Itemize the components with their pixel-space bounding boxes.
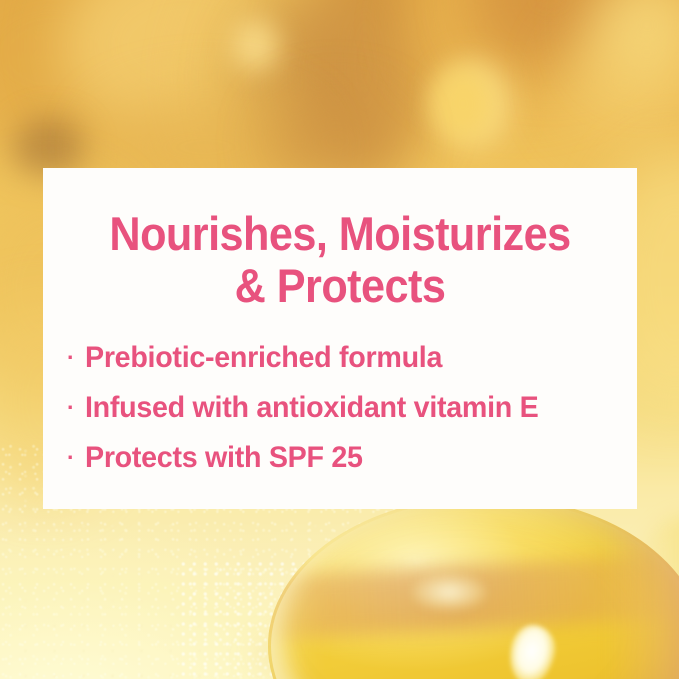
list-item: · Infused with antioxidant vitamin E — [67, 388, 637, 427]
list-item-label: Prebiotic-enriched formula — [85, 338, 442, 377]
headline: Nourishes, Moisturizes & Protects — [67, 168, 613, 312]
bokeh-blob — [470, 0, 630, 70]
product-feature-image: Nourishes, Moisturizes & Protects · Preb… — [0, 0, 679, 679]
bokeh-blob — [412, 0, 622, 100]
bokeh-blob — [432, 68, 494, 140]
bokeh-blob — [200, 0, 380, 180]
bullet-dot-icon: · — [67, 346, 85, 369]
bokeh-blob — [300, 0, 430, 180]
capsule-soft-highlight — [412, 574, 486, 610]
bullet-dot-icon: · — [67, 396, 85, 419]
list-item: · Prebiotic-enriched formula — [67, 338, 637, 377]
bullet-dot-icon: · — [67, 446, 85, 469]
bokeh-blob — [440, 62, 510, 146]
list-item-label: Protects with SPF 25 — [85, 438, 363, 477]
bokeh-blob — [60, 0, 310, 145]
list-item-label: Infused with antioxidant vitamin E — [85, 388, 538, 427]
bokeh-blob — [560, 22, 679, 142]
bokeh-blob — [0, 0, 170, 150]
benefits-card: Nourishes, Moisturizes & Protects · Preb… — [43, 168, 637, 509]
bokeh-blob — [232, 20, 278, 72]
list-item: · Protects with SPF 25 — [67, 438, 637, 477]
bokeh-blob — [592, 0, 679, 80]
bokeh-blob — [236, 0, 356, 170]
benefits-list: · Prebiotic-enriched formula · Infused w… — [43, 312, 637, 477]
